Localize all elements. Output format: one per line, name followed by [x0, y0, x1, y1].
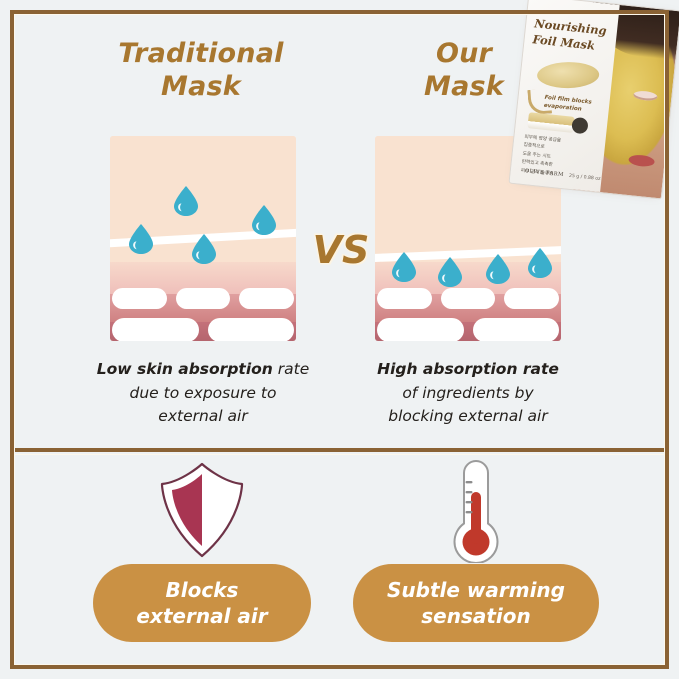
shield-icon	[62, 456, 342, 564]
water-droplet	[485, 254, 511, 284]
versus-badge: VS	[309, 228, 373, 272]
skin-cell	[208, 318, 295, 341]
features-section: Blocks external air Subtle warming sensa…	[14, 456, 665, 665]
our-caption-bold: High absorption rate	[377, 360, 559, 378]
cell-row-upper	[110, 288, 296, 309]
water-droplet	[437, 257, 463, 287]
skin-cell	[377, 288, 432, 309]
skin-cell	[239, 288, 294, 309]
product-package-photo: Nourishing Foil Mask Foil film blocks ev…	[508, 0, 679, 200]
traditional-skin-diagram	[110, 136, 296, 341]
skin-cell	[473, 318, 560, 341]
feature-label-blocks-air: Blocks external air	[93, 564, 311, 642]
feature-subtle-warming: Subtle warming sensation	[336, 456, 616, 642]
cell-row-lower	[375, 318, 561, 341]
our-caption-rest: of ingredients by blocking external air	[388, 384, 547, 426]
feature-blocks-external-air: Blocks external air	[62, 456, 342, 642]
skin-cell	[176, 288, 231, 309]
skin-cell	[112, 288, 167, 309]
traditional-mask-title: Traditional Mask	[96, 38, 306, 104]
skin-cell	[504, 288, 559, 309]
cell-row-upper	[375, 288, 561, 309]
our-caption: High absorption rate of ingredients by b…	[350, 358, 586, 429]
feature-label-warming: Subtle warming sensation	[353, 564, 599, 642]
cell-row-lower	[110, 318, 296, 341]
water-droplet	[527, 248, 553, 278]
water-droplet	[173, 186, 199, 216]
skin-cell	[441, 288, 496, 309]
traditional-caption-bold: Low skin absorption	[97, 360, 273, 378]
water-droplet	[391, 252, 417, 282]
thermometer-icon	[336, 456, 616, 564]
traditional-caption: Low skin absorption rate due to exposure…	[85, 358, 321, 429]
skin-cell	[112, 318, 199, 341]
water-droplet	[251, 205, 277, 235]
water-droplet	[191, 234, 217, 264]
section-divider	[14, 448, 665, 452]
package-body: Nourishing Foil Mask Foil film blocks ev…	[508, 0, 679, 200]
infographic-canvas: Traditional Mask Our Mask	[0, 0, 679, 679]
skin-cell	[377, 318, 464, 341]
section-divider-hairline	[14, 454, 665, 455]
water-droplet	[128, 224, 154, 254]
